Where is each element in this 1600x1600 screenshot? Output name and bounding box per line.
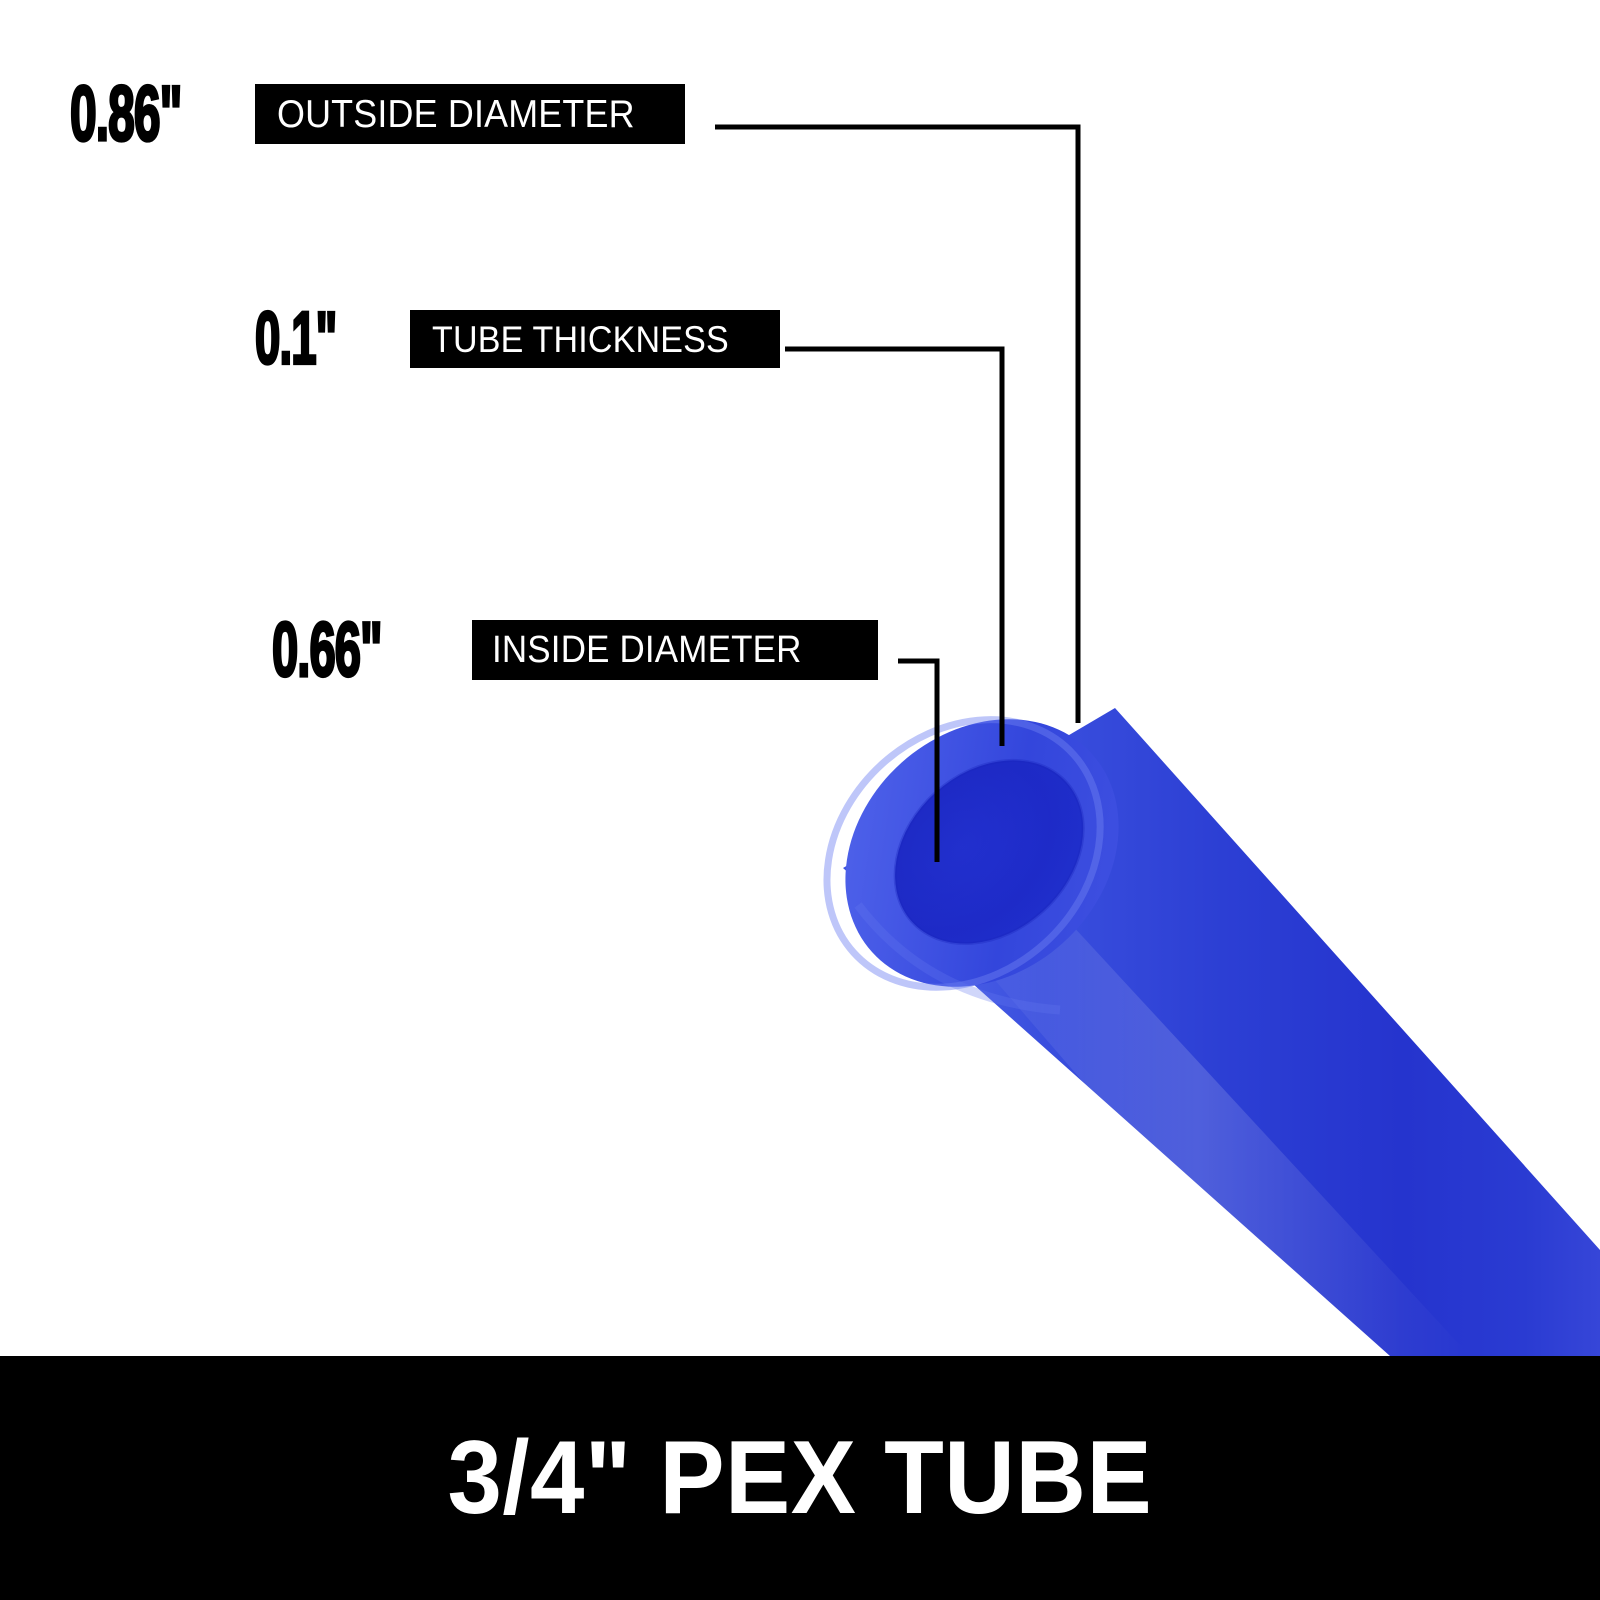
tube-thickness-leader [785, 349, 1002, 746]
banner-title: 3/4" PEX TUBE [448, 1426, 1153, 1530]
callout-inside-diameter: 0.66" INSIDE DIAMETER [272, 620, 878, 680]
callout-tube-thickness-chip: TUBE THICKNESS [410, 310, 780, 368]
callout-inside-diameter-value: 0.66" [272, 612, 432, 689]
callout-inside-diameter-label: INSIDE DIAMETER [492, 631, 802, 669]
bottom-banner: 3/4" PEX TUBE [0, 1356, 1600, 1600]
callout-outside-diameter-value: 0.86" [70, 75, 218, 153]
callout-outside-diameter-chip: OUTSIDE DIAMETER [255, 84, 685, 144]
callout-outside-diameter: 0.86" OUTSIDE DIAMETER [70, 84, 685, 144]
product-diagram: 0.86" OUTSIDE DIAMETER 0.1" TUBE THICKNE… [0, 0, 1600, 1600]
callout-tube-thickness-label: TUBE THICKNESS [432, 321, 729, 358]
callout-outside-diameter-label: OUTSIDE DIAMETER [277, 95, 635, 134]
callout-tube-thickness: 0.1" TUBE THICKNESS [255, 310, 780, 368]
callout-tube-thickness-value: 0.1" [255, 302, 379, 376]
callout-inside-diameter-chip: INSIDE DIAMETER [472, 620, 878, 680]
